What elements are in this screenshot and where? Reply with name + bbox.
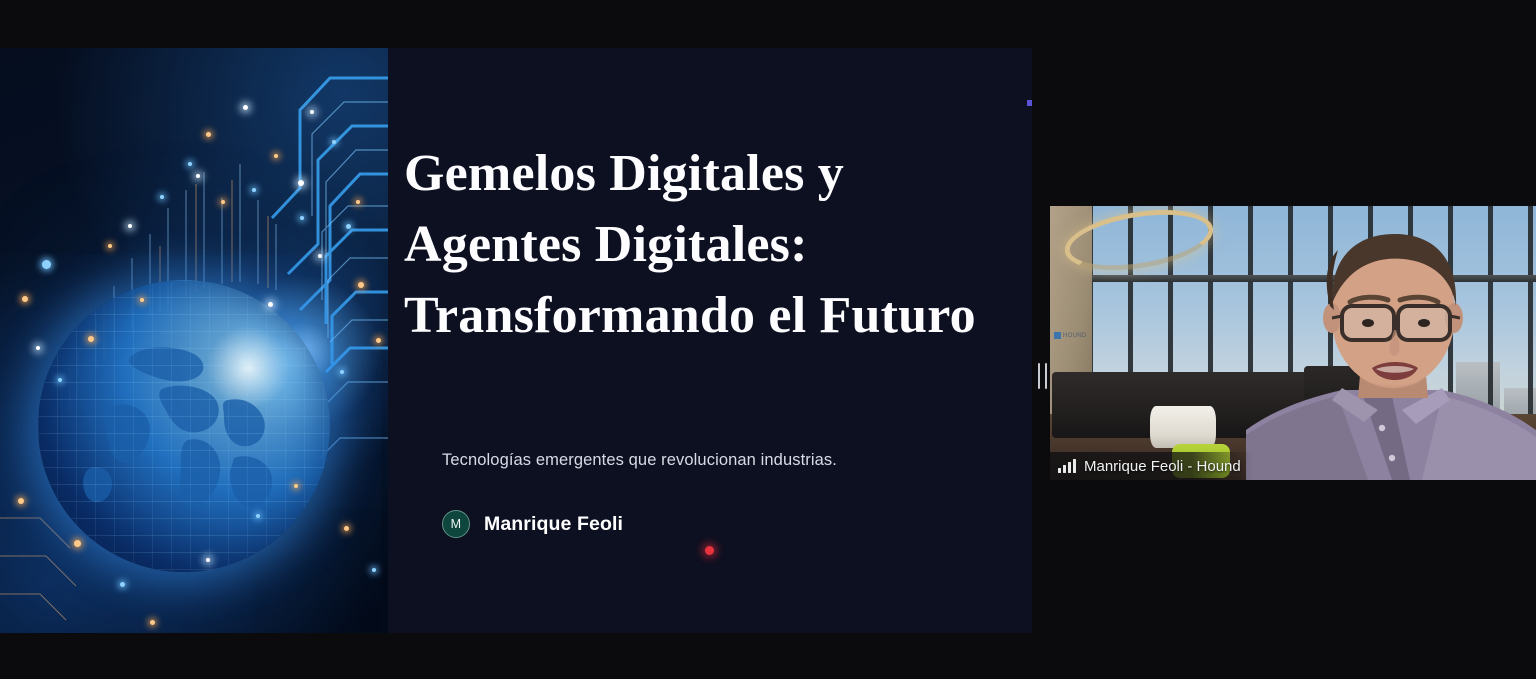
slide-text-panel: Gemelos Digitales y Agentes Digitales: T… [388, 48, 1032, 633]
slide-subtitle: Tecnologías emergentes que revolucionan … [442, 451, 837, 470]
presenter-name: Manrique Feoli [484, 513, 623, 536]
globe-wireframe-grid [38, 280, 330, 572]
meeting-screen-share-view: Gemelos Digitales y Agentes Digitales: T… [0, 0, 1536, 679]
avatar: M [442, 510, 470, 538]
participant-name-label: Manrique Feoli - Hound [1050, 452, 1253, 480]
audio-level-bars-icon [1058, 459, 1076, 473]
laser-pointer-dot [705, 546, 714, 555]
slide-title-line-1: Gemelos Digitales y [404, 138, 1024, 209]
slide-blue-marker [1027, 100, 1032, 106]
globe-sphere [38, 280, 330, 572]
panel-resize-handle[interactable] [1038, 363, 1047, 389]
shared-slide[interactable]: Gemelos Digitales y Agentes Digitales: T… [0, 48, 1032, 633]
vb-coffee-table [1150, 406, 1216, 448]
participant-name-text: Manrique Feoli - Hound [1084, 458, 1241, 475]
slide-title-line-2: Agentes Digitales: [404, 209, 1024, 280]
slide-title-line-3: Transformando el Futuro [404, 280, 1024, 351]
resize-handle-line [1038, 363, 1040, 389]
hound-wordmark: HOUND [1063, 333, 1087, 339]
slide-title: Gemelos Digitales y Agentes Digitales: T… [404, 138, 1024, 352]
presenter-byline: M Manrique Feoli [442, 510, 623, 538]
participant-video-tile[interactable]: HOUND [1050, 206, 1536, 480]
vb-hound-watermark: HOUND [1054, 332, 1087, 339]
hound-mark-icon [1054, 332, 1061, 339]
resize-handle-line [1045, 363, 1047, 389]
participant-webcam-person [1246, 232, 1536, 480]
slide-artwork-digital-globe [0, 48, 388, 633]
